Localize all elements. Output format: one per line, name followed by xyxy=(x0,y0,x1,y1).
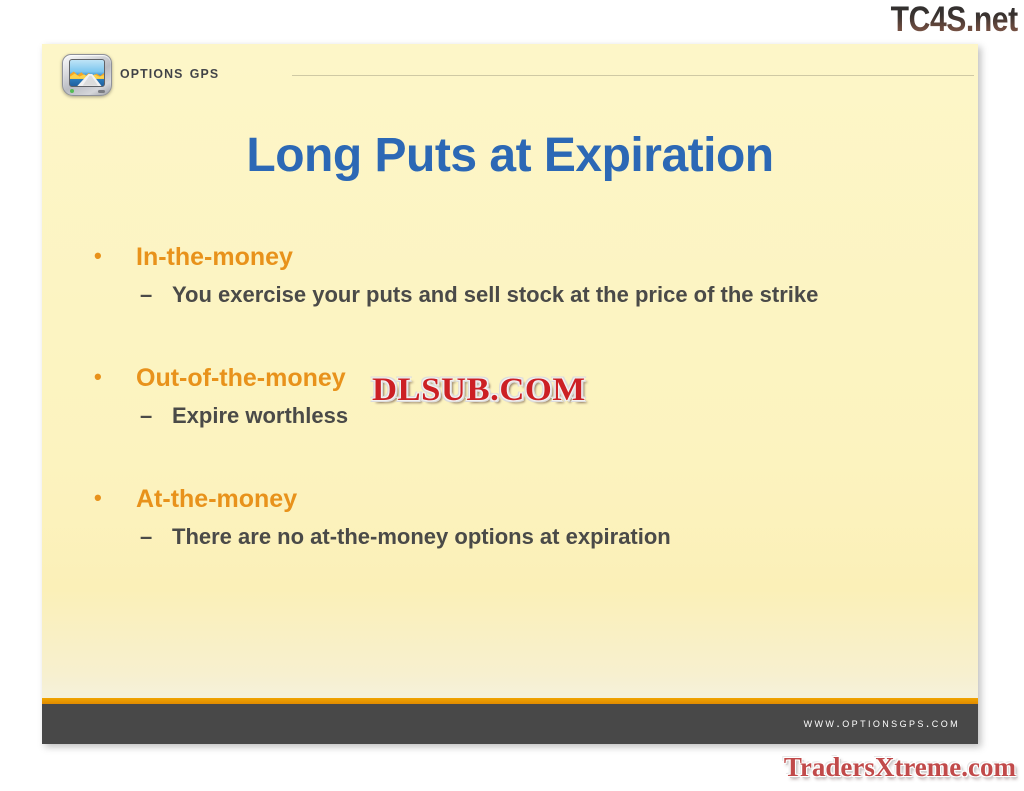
slide-footer: www.OptionsGPS.com xyxy=(42,704,978,744)
bullet-group-in-the-money: • In-the-money – You exercise your puts … xyxy=(94,240,954,309)
sub-bullet-text: Expire worthless xyxy=(172,401,348,430)
slide-header: Options GPS xyxy=(42,44,978,104)
sub-bullet-dash-icon: – xyxy=(140,280,172,309)
sub-bullet-exercise-puts: – You exercise your puts and sell stock … xyxy=(140,280,954,309)
bullet-dot-icon: • xyxy=(94,482,136,514)
gps-monitor-icon xyxy=(62,54,112,96)
sub-bullet-dash-icon: – xyxy=(140,401,172,430)
spacer xyxy=(94,434,954,482)
tradersxtreme-watermark: TradersXtreme.com xyxy=(784,752,1016,783)
bullet-label: At-the-money xyxy=(136,482,297,516)
tc4s-watermark: TC4S.net xyxy=(891,2,1018,38)
road-shape xyxy=(73,74,102,86)
power-led-icon xyxy=(70,89,74,93)
header-divider xyxy=(292,75,974,76)
sub-bullet-text: You exercise your puts and sell stock at… xyxy=(172,280,818,309)
sub-bullet-text: There are no at-the-money options at exp… xyxy=(172,522,671,551)
footer-url: www.OptionsGPS.com xyxy=(804,715,960,730)
bullet-dot-icon: • xyxy=(94,361,136,393)
sub-bullet-dash-icon: – xyxy=(140,522,172,551)
sub-bullet-no-atm-options: – There are no at-the-money options at e… xyxy=(140,522,954,551)
device-button-icon xyxy=(98,90,105,93)
dlsub-watermark: DLSUB.COM xyxy=(372,372,586,409)
bullet-label: Out-of-the-money xyxy=(136,361,346,395)
bullet-dot-icon: • xyxy=(94,240,136,272)
bullet-label: In-the-money xyxy=(136,240,293,274)
presentation-slide: Options GPS Long Puts at Expiration • In… xyxy=(42,44,978,744)
spacer xyxy=(94,313,954,361)
logo-wordmark: Options GPS xyxy=(120,62,219,84)
monitor-screen xyxy=(69,59,105,87)
bullet-group-at-the-money: • At-the-money – There are no at-the-mon… xyxy=(94,482,954,551)
bullet-in-the-money: • In-the-money xyxy=(94,240,954,274)
page-title: Long Puts at Expiration xyxy=(42,128,978,183)
bullet-at-the-money: • At-the-money xyxy=(94,482,954,516)
